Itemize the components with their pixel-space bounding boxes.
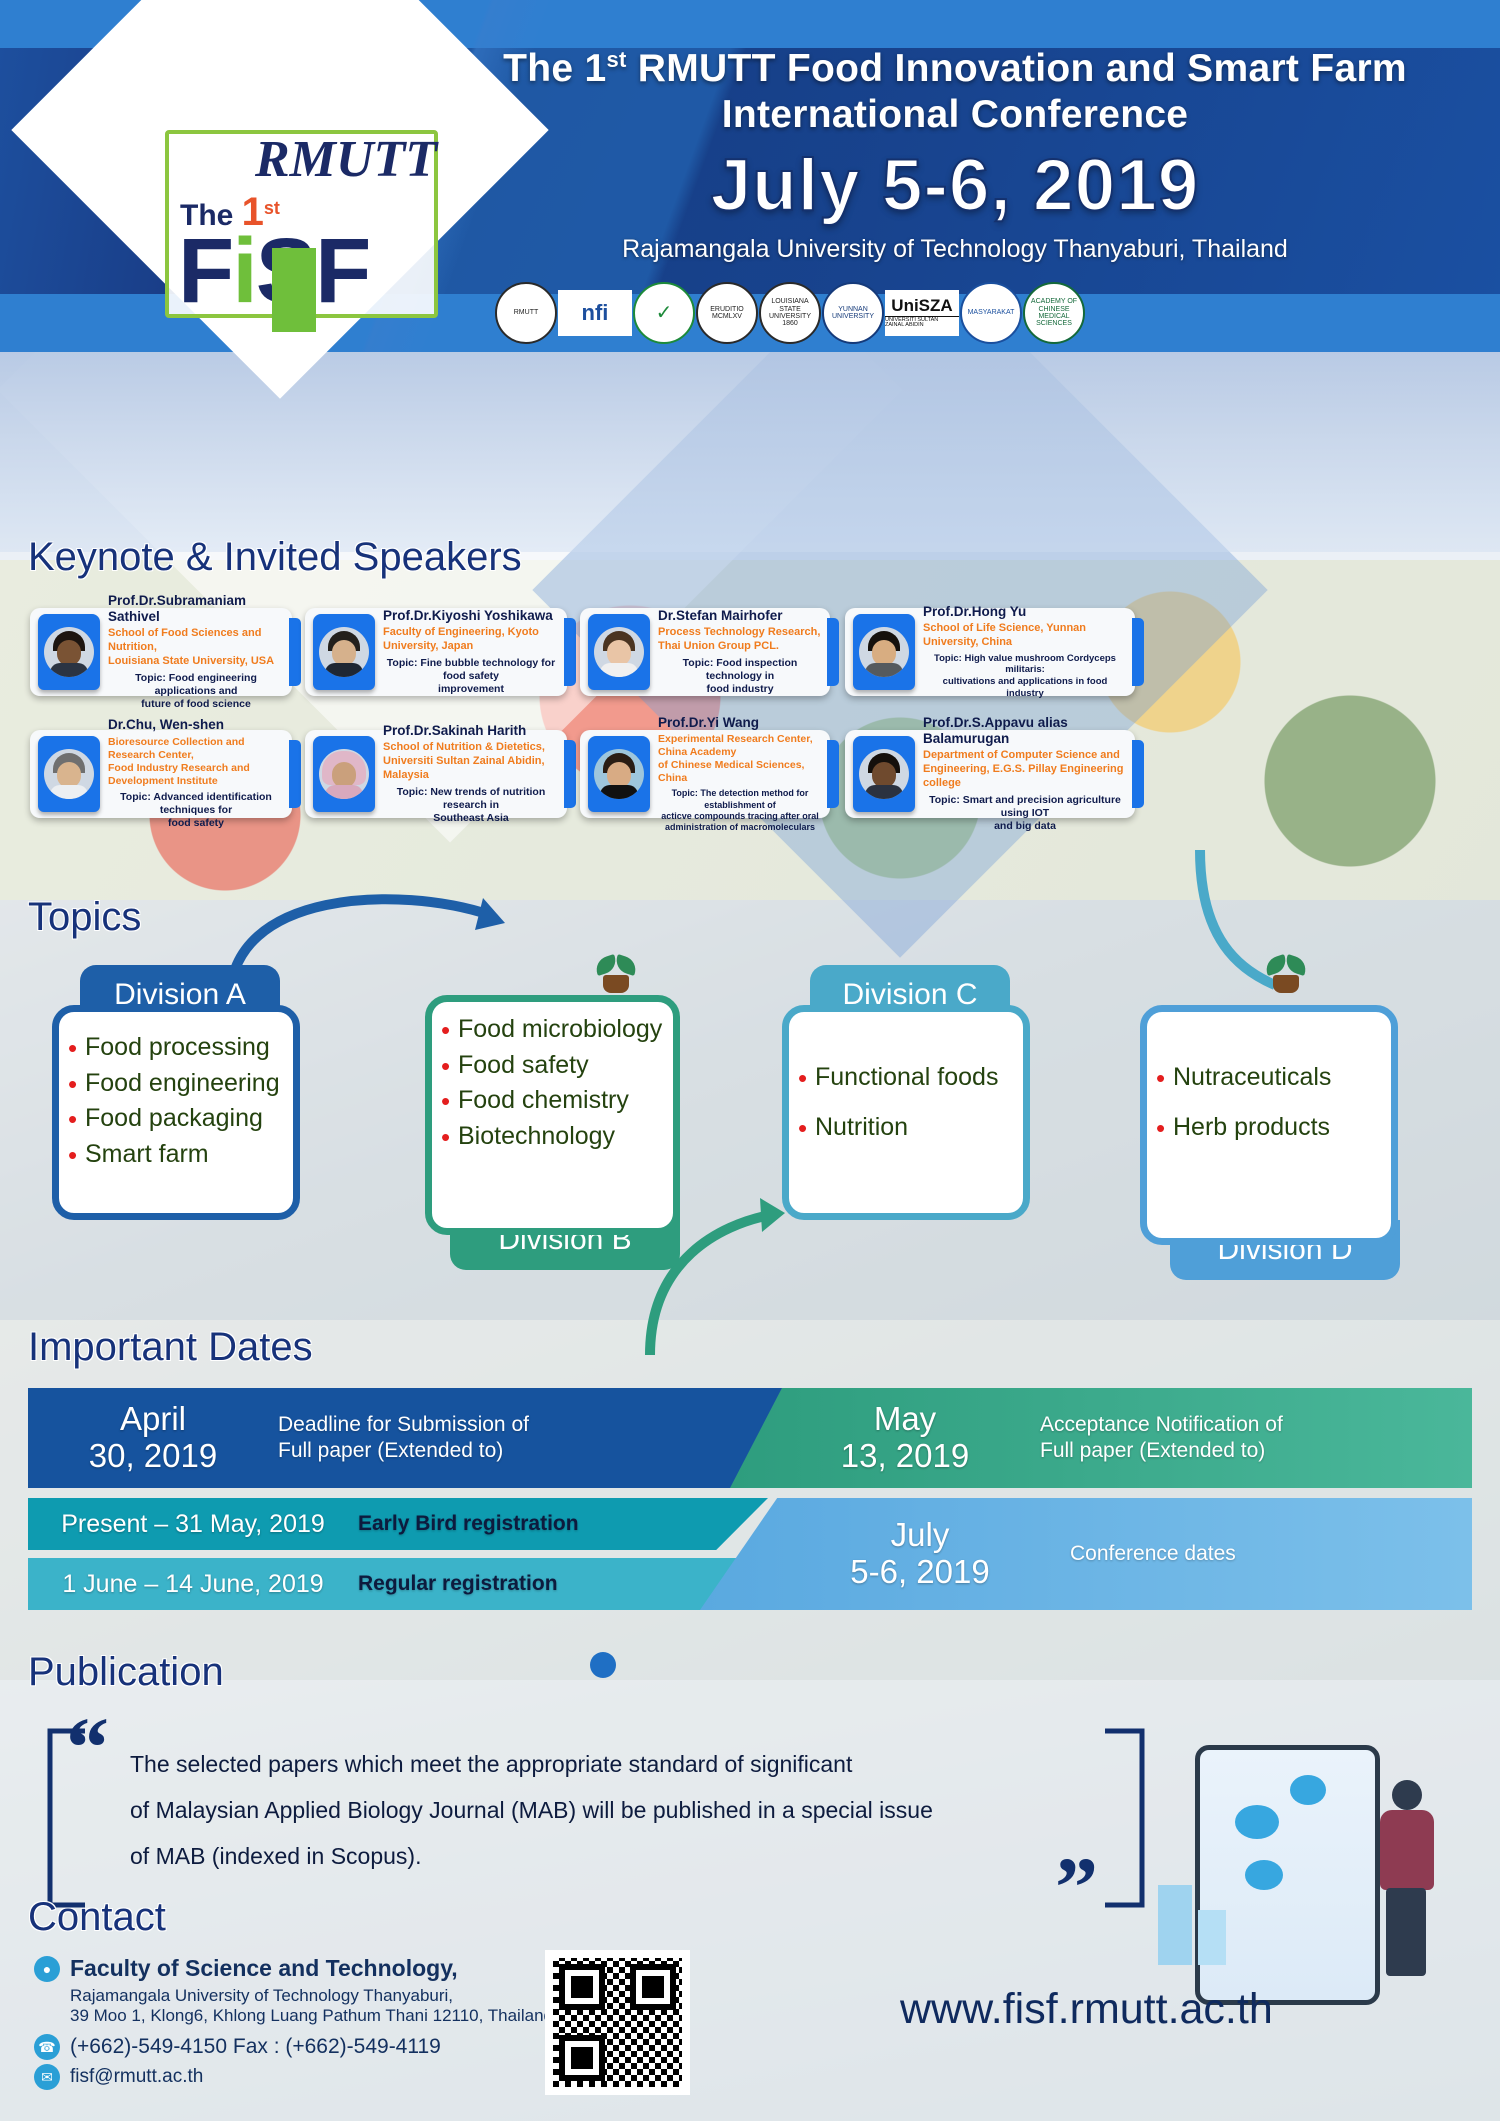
speaker-topic: Topic: The detection method for establis… — [658, 788, 822, 833]
list-item: Nutraceuticals — [1173, 1052, 1381, 1102]
qr-code[interactable] — [545, 1950, 690, 2095]
list-item: Nutrition — [815, 1102, 1013, 1152]
speaker-topic: Topic: New trends of nutrition research … — [383, 786, 559, 825]
speaker-photo — [313, 736, 375, 812]
speaker-photo — [588, 736, 650, 812]
date-row-regular: 1 June – 14 June, 2019 Regular registrat… — [28, 1558, 768, 1610]
date-label: Early Bird registration — [358, 1511, 579, 1537]
rmutt-seal-logo: RMUTT — [495, 282, 557, 344]
list-item: Smart farm — [85, 1137, 283, 1173]
date-value: April 30, 2019 — [28, 1401, 278, 1475]
contact-address: 39 Moo 1, Klong6, Khlong Luang Pathum Th… — [70, 2006, 554, 2026]
list-item: Food chemistry — [458, 1083, 663, 1119]
speaker-name: Prof.Dr.Subramaniam Sathivel — [108, 593, 284, 625]
list-item: Food engineering — [85, 1066, 283, 1102]
date-label: Deadline for Submission of Full paper (E… — [278, 1412, 529, 1465]
sponsor-logo-row: RMUTT nfi ✓ ERUDITIO MCMLXV LOUISIANA ST… — [495, 272, 1085, 354]
speaker-photo — [38, 614, 100, 690]
connector-arrow — [1180, 830, 1340, 1020]
speaker-topic: Topic: High value mushroom Cordyceps mil… — [923, 653, 1127, 701]
publication-section-heading: Publication — [28, 1650, 224, 1695]
rmutt-wordmark: RMUTT — [255, 130, 437, 189]
speaker-topic: Topic: Advanced identification technique… — [108, 791, 284, 830]
contact-phone: (+662)-549-4150 Fax : (+662)-549-4119 — [70, 2035, 441, 2059]
date-label: Regular registration — [358, 1571, 558, 1597]
speaker-card: Dr.Chu, Wen-shen Bioresource Collection … — [30, 730, 292, 818]
speaker-affiliation: School of Nutrition & Dietetics, Univers… — [383, 741, 559, 782]
list-item: Food packaging — [85, 1101, 283, 1137]
conference-venue: Rajamangala University of Technology Tha… — [430, 235, 1480, 264]
speaker-topic: Topic: Food engineering applications and… — [108, 672, 284, 711]
division-b-list: Food microbiology Food safety Food chemi… — [432, 1002, 673, 1164]
date-value: Present – 31 May, 2019 — [28, 1510, 358, 1538]
smart-city-illustration — [1140, 1700, 1500, 2000]
speaker-affiliation: School of Food Sciences and Nutrition, L… — [108, 627, 284, 668]
division-a-card: Food processing Food engineering Food pa… — [52, 1005, 300, 1220]
phone-icon: ☎ — [34, 2034, 60, 2060]
contact-email[interactable]: fisf@rmutt.ac.th — [70, 2066, 203, 2088]
publication-line: of MAB (indexed in Scopus). — [130, 1833, 1090, 1879]
list-item: Functional foods — [815, 1052, 1013, 1102]
speaker-photo — [853, 736, 915, 812]
contact-faculty: Faculty of Science and Technology, — [70, 1955, 458, 1982]
email-icon: ✉ — [34, 2064, 60, 2090]
date-label: Acceptance Notification of Full paper (E… — [1040, 1412, 1283, 1465]
speaker-card: Prof.Dr.Kiyoshi Yoshikawa Faculty of Eng… — [305, 608, 567, 696]
speaker-topic: Topic: Smart and precision agriculture u… — [923, 794, 1127, 833]
speaker-name: Dr.Chu, Wen-shen — [108, 717, 284, 733]
website-url[interactable]: www.fisf.rmutt.ac.th — [900, 1985, 1273, 2034]
checker-pattern — [272, 248, 316, 332]
publication-text: The selected papers which meet the appro… — [130, 1741, 1090, 1879]
speaker-card: Prof.Dr.S.Appavu alias Balamurugan Depar… — [845, 730, 1135, 818]
decorative-dot — [590, 1652, 616, 1678]
list-item: Food safety — [458, 1048, 663, 1084]
list-item: Herb products — [1173, 1102, 1381, 1152]
topics-section-heading: Topics — [28, 895, 141, 940]
speaker-card: Prof.Dr.Yi Wang Experimental Research Ce… — [580, 730, 830, 818]
date-value: July 5-6, 2019 — [770, 1517, 1070, 1591]
speaker-photo — [313, 614, 375, 690]
speaker-name: Prof.Dr.Hong Yu — [923, 604, 1127, 620]
speaker-photo — [588, 614, 650, 690]
date-row-acceptance: May 13, 2019 Acceptance Notification of … — [730, 1388, 1472, 1488]
speaker-affiliation: School of Life Science, Yunnan Universit… — [923, 622, 1127, 650]
division-b-card: Food microbiology Food safety Food chemi… — [425, 995, 680, 1235]
division-d-list: Nutraceuticals Herb products — [1147, 1012, 1391, 1162]
speaker-name: Dr.Stefan Mairhofer — [658, 608, 822, 624]
date-label: Conference dates — [1070, 1541, 1236, 1567]
speaker-name: Prof.Dr.S.Appavu alias Balamurugan — [923, 715, 1127, 747]
list-item: Biotechnology — [458, 1119, 663, 1155]
division-a-list: Food processing Food engineering Food pa… — [59, 1012, 293, 1182]
speaker-affiliation: Bioresource Collection and Research Cent… — [108, 736, 284, 789]
date-row-conference: July 5-6, 2019 Conference dates — [700, 1498, 1472, 1610]
speaker-photo — [38, 736, 100, 812]
publication-box: “ ” The selected papers which meet the a… — [30, 1725, 1160, 1910]
date-row-early-bird: Present – 31 May, 2019 Early Bird regist… — [28, 1498, 768, 1550]
speaker-topic: Topic: Fine bubble technology for food s… — [383, 657, 559, 696]
speaker-topic: Topic: Food inspection technology in foo… — [658, 657, 822, 696]
division-d-card: Nutraceuticals Herb products — [1140, 1005, 1398, 1245]
location-pin-icon: ● — [34, 1956, 60, 1982]
speaker-card: Prof.Dr.Subramaniam Sathivel School of F… — [30, 608, 292, 696]
yunnan-university-logo: YUNNAN UNIVERSITY — [822, 282, 884, 344]
louisiana-state-university-logo: LOUISIANA STATE UNIVERSITY 1860 — [759, 282, 821, 344]
date-value: May 13, 2019 — [770, 1401, 1040, 1475]
speaker-card: Dr.Stefan Mairhofer Process Technology R… — [580, 608, 830, 696]
speaker-name: Prof.Dr.Yi Wang — [658, 715, 822, 731]
masyarakat-logo: MASYARAKAT — [960, 282, 1022, 344]
check-mark-logo: ✓ — [633, 282, 695, 344]
conference-title: The 1st RMUTT Food Innovation and Smart … — [430, 46, 1480, 138]
dates-section-heading: Important Dates — [28, 1325, 313, 1370]
unisza-logo: UniSZA UNIVERSITI SULTAN ZAINAL ABIDIN — [885, 290, 959, 336]
publication-line: The selected papers which meet the appro… — [130, 1741, 1090, 1787]
speaker-affiliation: Department of Computer Science and Engin… — [923, 749, 1127, 790]
contact-section-heading: Contact — [28, 1895, 166, 1940]
conference-date: July 5-6, 2019 — [430, 144, 1480, 227]
conference-poster: The 1st RMUTT Food Innovation and Smart … — [0, 0, 1500, 2121]
keynote-section-heading: Keynote & Invited Speakers — [28, 535, 522, 580]
speaker-affiliation: Faculty of Engineering, Kyoto University… — [383, 626, 559, 654]
division-c-card: Functional foods Nutrition — [782, 1005, 1030, 1220]
speaker-name: Prof.Dr.Kiyoshi Yoshikawa — [383, 608, 559, 624]
open-quote-icon: “ — [66, 1697, 109, 1797]
nfi-logo: nfi — [558, 290, 632, 336]
contact-university: Rajamangala University of Technology Tha… — [70, 1986, 554, 2006]
chinese-medical-sciences-logo: ACADEMY OF CHINESE MEDICAL SCIENCES — [1023, 282, 1085, 344]
speaker-card: Prof.Dr.Hong Yu School of Life Science, … — [845, 608, 1135, 696]
division-c-list: Functional foods Nutrition — [789, 1012, 1023, 1162]
speaker-affiliation: Experimental Research Center, China Acad… — [658, 733, 822, 786]
plant-icon — [1265, 955, 1309, 995]
list-item: Food microbiology — [458, 1012, 663, 1048]
plant-icon — [595, 955, 639, 995]
speaker-name: Prof.Dr.Sakinah Harith — [383, 723, 559, 739]
speaker-photo — [853, 614, 915, 690]
speaker-affiliation: Process Technology Research, Thai Union … — [658, 626, 822, 654]
date-row-submission: April 30, 2019 Deadline for Submission o… — [28, 1388, 788, 1488]
eruditio-logo: ERUDITIO MCMLXV — [696, 282, 758, 344]
publication-line: of Malaysian Applied Biology Journal (MA… — [130, 1787, 1090, 1833]
fisf-logo: RMUTT The 1st FiSF — [40, 10, 510, 410]
list-item: Food processing — [85, 1030, 283, 1066]
contact-block: ● Faculty of Science and Technology, Raj… — [34, 1955, 554, 2094]
date-value: 1 June – 14 June, 2019 — [28, 1570, 358, 1598]
speaker-card: Prof.Dr.Sakinah Harith School of Nutriti… — [305, 730, 567, 818]
